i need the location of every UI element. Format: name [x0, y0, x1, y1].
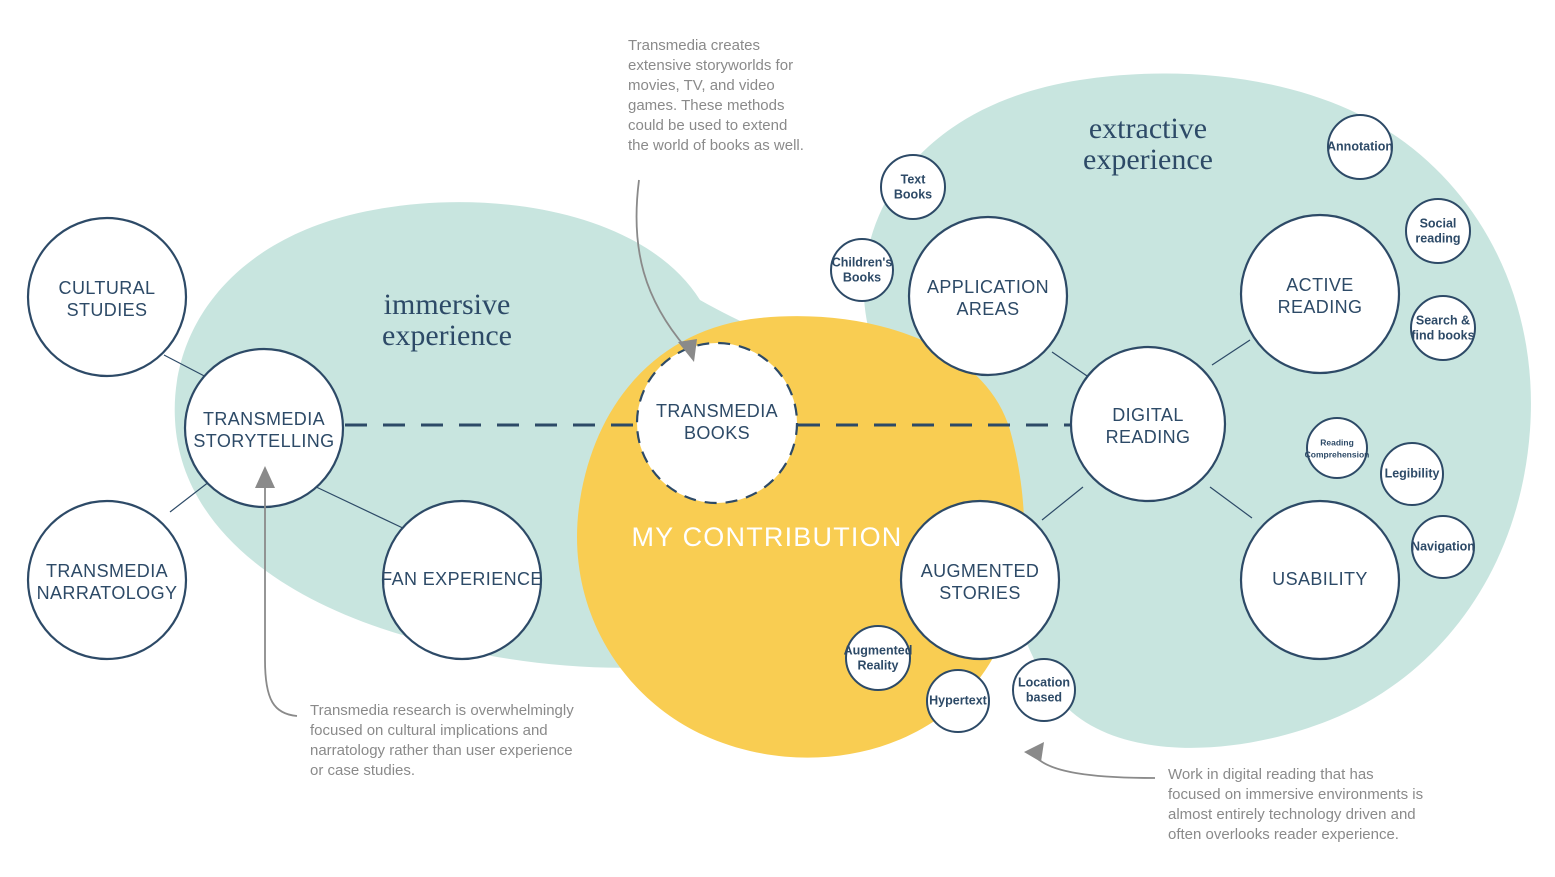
- satellite-search-find-books-label-line1: Search &: [1416, 313, 1470, 327]
- satellite-hypertext-label-line1: Hypertext: [929, 693, 987, 707]
- annotation-bottom-left: Transmedia research is overwhelmingly fo…: [310, 701, 615, 781]
- satellite-childrens-books[interactable]: Children's Books: [831, 239, 893, 301]
- satellite-navigation[interactable]: Navigation: [1411, 516, 1475, 578]
- node-cultural-studies[interactable]: CULTURAL STUDIES: [28, 218, 186, 376]
- satellite-location-based-label-line2: based: [1026, 690, 1062, 704]
- satellite-reading-comprehension[interactable]: Reading Comprehension: [1305, 418, 1370, 478]
- node-transmedia-books-label-line1: TRANSMEDIA: [656, 401, 778, 421]
- node-application-areas[interactable]: APPLICATION AREAS: [909, 217, 1067, 375]
- node-transmedia-narratology[interactable]: TRANSMEDIA NARRATOLOGY: [28, 501, 186, 659]
- contribution-zone-label: MY CONTRIBUTION: [631, 522, 902, 552]
- node-active-reading-label-line1: ACTIVE: [1286, 275, 1353, 295]
- satellite-text-books-label-line2: Books: [894, 187, 932, 201]
- satellite-annotation-label-line1: Annotation: [1327, 139, 1393, 153]
- node-digital-reading-label-line1: DIGITAL: [1112, 405, 1183, 425]
- node-cultural-studies-label-line2: STUDIES: [67, 300, 148, 320]
- annotation-bottom-right: Work in digital reading that has focused…: [1168, 765, 1468, 845]
- callout-bottom-right-arrowhead: [1024, 742, 1044, 762]
- satellite-text-books[interactable]: Text Books: [881, 155, 945, 219]
- node-transmedia-storytelling-label-line2: STORYTELLING: [193, 431, 334, 451]
- satellite-reading-comprehension-label-line2: Comprehension: [1305, 449, 1370, 459]
- satellite-search-find-books-label-line2: find books: [1411, 328, 1474, 342]
- immersive-zone-label-line1: immersive: [384, 288, 511, 321]
- satellite-childrens-books-label-line1: Children's: [832, 255, 893, 269]
- extractive-zone-label-line2: experience: [1083, 143, 1213, 176]
- satellite-augmented-reality[interactable]: Augmented Reality: [844, 626, 913, 690]
- satellite-text-books-label-line1: Text: [901, 172, 927, 186]
- node-application-areas-label-line2: AREAS: [956, 299, 1019, 319]
- node-transmedia-narratology-label-line1: TRANSMEDIA: [46, 561, 168, 581]
- satellite-social-reading-label-line2: reading: [1415, 231, 1460, 245]
- node-transmedia-narratology-label-line2: NARRATOLOGY: [37, 583, 178, 603]
- node-fan-experience-label-line1: FAN EXPERIENCE: [381, 569, 543, 589]
- satellite-legibility-label-line1: Legibility: [1385, 466, 1440, 480]
- satellite-childrens-books-label-line2: Books: [843, 270, 881, 284]
- satellite-reading-comprehension-label-line1: Reading: [1320, 437, 1354, 447]
- node-transmedia-books-label-line2: BOOKS: [684, 423, 750, 443]
- satellite-social-reading[interactable]: Social reading: [1406, 199, 1470, 263]
- callout-bottom-right-leader-line: [1036, 757, 1155, 778]
- satellite-search-find-books[interactable]: Search & find books: [1411, 296, 1475, 360]
- satellite-location-based[interactable]: Location based: [1013, 659, 1075, 721]
- satellite-augmented-reality-label-line1: Augmented: [844, 643, 913, 657]
- satellite-social-reading-label-line1: Social: [1420, 216, 1457, 230]
- node-transmedia-storytelling-label-line1: TRANSMEDIA: [203, 409, 325, 429]
- node-application-areas-label-line1: APPLICATION: [927, 277, 1049, 297]
- satellite-reading-comprehension-circle[interactable]: [1307, 418, 1367, 478]
- node-transmedia-books[interactable]: TRANSMEDIA BOOKS: [637, 343, 797, 503]
- node-active-reading[interactable]: ACTIVE READING: [1241, 215, 1399, 373]
- satellite-augmented-reality-label-line2: Reality: [858, 658, 899, 672]
- node-augmented-stories[interactable]: AUGMENTED STORIES: [901, 501, 1059, 659]
- extractive-zone-label-line1: extractive: [1089, 112, 1207, 145]
- node-digital-reading-label-line2: READING: [1106, 427, 1191, 447]
- node-active-reading-label-line2: READING: [1278, 297, 1363, 317]
- node-usability[interactable]: USABILITY: [1241, 501, 1399, 659]
- satellite-location-based-label-line1: Location: [1018, 675, 1070, 689]
- satellite-hypertext[interactable]: Hypertext: [927, 670, 989, 732]
- satellite-annotation[interactable]: Annotation: [1327, 115, 1393, 179]
- immersive-zone-label-line2: experience: [382, 319, 512, 352]
- satellite-legibility[interactable]: Legibility: [1381, 443, 1443, 505]
- node-digital-reading[interactable]: DIGITAL READING: [1071, 347, 1225, 501]
- node-usability-label-line1: USABILITY: [1272, 569, 1368, 589]
- node-augmented-stories-label-line2: STORIES: [939, 583, 1021, 603]
- node-cultural-studies-label-line1: CULTURAL: [59, 278, 156, 298]
- annotation-top: Transmedia creates extensive storyworlds…: [628, 36, 853, 156]
- diagram-canvas: immersive experience extractive experien…: [0, 0, 1555, 877]
- node-fan-experience[interactable]: FAN EXPERIENCE: [381, 501, 543, 659]
- node-augmented-stories-label-line1: AUGMENTED: [921, 561, 1040, 581]
- satellite-navigation-label-line1: Navigation: [1411, 539, 1475, 553]
